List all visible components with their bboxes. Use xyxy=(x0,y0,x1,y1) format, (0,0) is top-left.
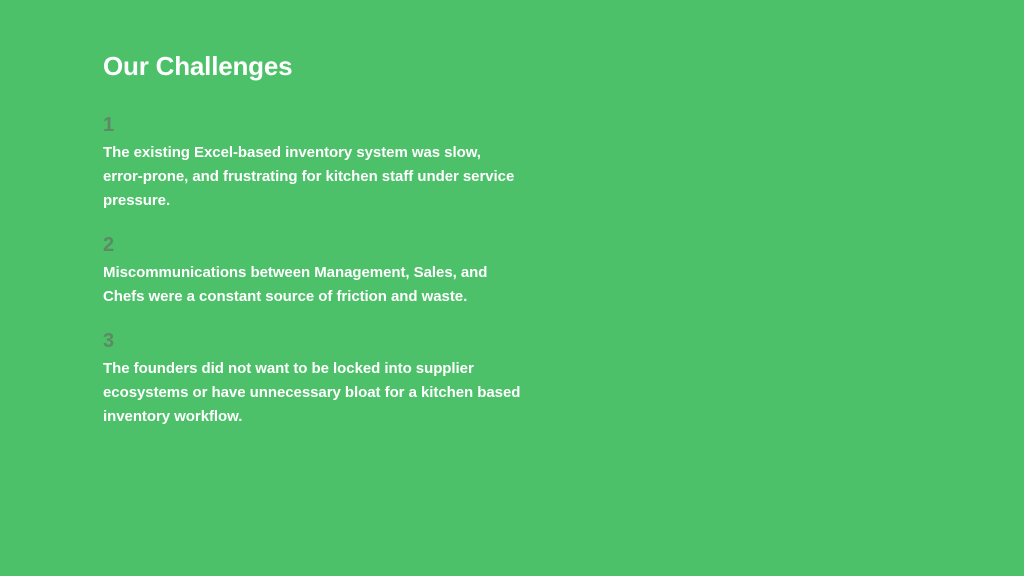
challenge-number: 3 xyxy=(103,328,533,354)
page-title: Our Challenges xyxy=(103,50,533,82)
list-item: 2 Miscommunications between Management, … xyxy=(103,232,533,309)
challenge-list: 1 The existing Excel-based inventory sys… xyxy=(103,112,533,429)
presentation-slide: Our Challenges 1 The existing Excel-base… xyxy=(0,0,1024,576)
slide-content: Our Challenges 1 The existing Excel-base… xyxy=(103,50,533,429)
challenge-text: The founders did not want to be locked i… xyxy=(103,357,523,429)
challenge-text: Miscommunications between Management, Sa… xyxy=(103,261,523,309)
challenge-text: The existing Excel-based inventory syste… xyxy=(103,141,523,213)
list-item: 3 The founders did not want to be locked… xyxy=(103,328,533,429)
list-item: 1 The existing Excel-based inventory sys… xyxy=(103,112,533,213)
challenge-number: 1 xyxy=(103,112,533,138)
challenge-number: 2 xyxy=(103,232,533,258)
